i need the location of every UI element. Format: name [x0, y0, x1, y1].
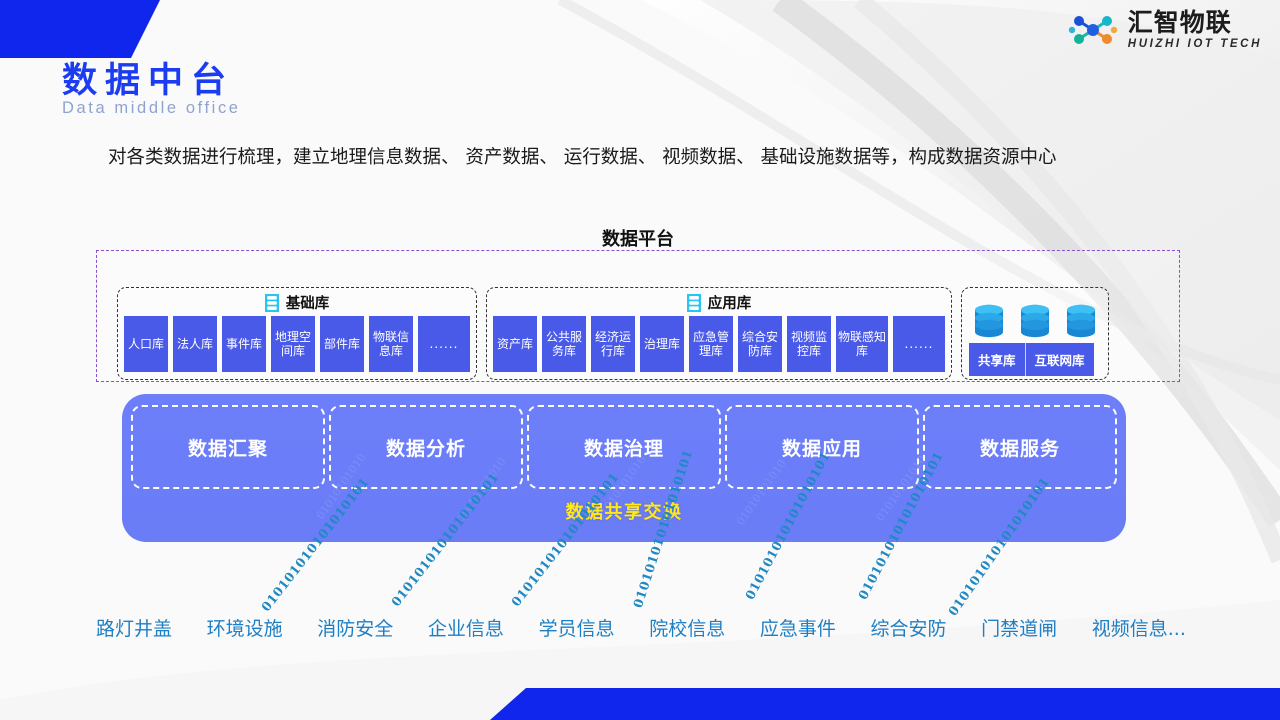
capability-cell-service[interactable]: 数据服务	[923, 405, 1117, 489]
library-group-application-header: 应用库	[493, 292, 945, 313]
internet-library-cell[interactable]: 互联网库	[1025, 343, 1094, 376]
slide-root: 汇智物联 HUIZHI IOT TECH 数据中台 Data middle of…	[0, 0, 1280, 720]
lead-paragraph: 对各类数据进行梳理，建立地理信息数据、 资产数据、 运行数据、 视频数据、 基础…	[108, 138, 1173, 179]
capability-band-footer: 数据共享交换	[122, 498, 1126, 524]
data-source-label-row: 路灯井盖 环境设施 消防安全 企业信息 学员信息 院校信息 应急事件 综合安防 …	[96, 614, 1186, 641]
database-stack-icon	[265, 294, 279, 312]
db-cylinder-icon	[973, 304, 1005, 338]
library-cell[interactable]: 地理空间库	[271, 316, 315, 372]
capability-cell-governance[interactable]: 数据治理	[527, 405, 721, 489]
top-left-blue-accent	[0, 0, 160, 58]
library-cell[interactable]: 资产库	[493, 316, 537, 372]
library-group-basic-cells: 人口库 法人库 事件库 地理空间库 部件库 物联信息库 ......	[124, 316, 470, 372]
source-item[interactable]: 门禁道闸	[981, 614, 1057, 641]
bottom-right-blue-accent	[490, 688, 1280, 720]
library-cell[interactable]: 视频监控库	[787, 316, 831, 372]
source-item[interactable]: 综合安防	[870, 614, 946, 641]
library-group-application-label: 应用库	[708, 292, 752, 313]
data-platform-title: 数据平台	[592, 229, 684, 250]
database-stack-icon	[687, 294, 701, 312]
capability-cell-aggregation[interactable]: 数据汇聚	[131, 405, 325, 489]
page-title-block: 数据中台 Data middle office	[62, 62, 241, 118]
library-group-basic-label: 基础库	[286, 292, 330, 313]
library-group-basic-header: 基础库	[124, 292, 470, 313]
db-cylinder-icon	[1019, 304, 1051, 338]
library-cell[interactable]: 经济运行库	[591, 316, 635, 372]
shared-library-cells: 共享库 互联网库	[969, 343, 1101, 376]
source-item[interactable]: 路灯井盖	[96, 614, 172, 641]
capability-cells: 数据汇聚 数据分析 数据治理 数据应用 数据服务	[131, 405, 1117, 489]
capability-band: 01010101010 01010101010 01010101010 0101…	[122, 394, 1126, 542]
database-cylinder-row	[969, 294, 1101, 338]
data-platform-title-wrap: 数据平台	[97, 225, 1179, 251]
library-cell-more[interactable]: ......	[893, 316, 945, 372]
logo-company-name-cn: 汇智物联	[1128, 10, 1262, 35]
logo-company-name-en: HUIZHI IOT TECH	[1128, 39, 1262, 51]
source-item[interactable]: 消防安全	[317, 614, 393, 641]
library-cell[interactable]: 人口库	[124, 316, 168, 372]
source-item[interactable]: 企业信息	[428, 614, 504, 641]
page-title: 数据中台	[62, 62, 241, 101]
library-cell-more[interactable]: ......	[418, 316, 470, 372]
library-cell[interactable]: 公共服务库	[542, 316, 586, 372]
molecule-network-icon	[1067, 10, 1119, 50]
page-subtitle: Data middle office	[62, 99, 241, 118]
library-cell[interactable]: 部件库	[320, 316, 364, 372]
platform-groups-row: 基础库 人口库 法人库 事件库 地理空间库 部件库 物联信息库 ......	[117, 287, 1109, 380]
source-item[interactable]: 学员信息	[539, 614, 615, 641]
library-cell[interactable]: 法人库	[173, 316, 217, 372]
source-item[interactable]: 院校信息	[649, 614, 725, 641]
db-cylinder-icon	[1065, 304, 1097, 338]
library-group-application: 应用库 资产库 公共服务库 经济运行库 治理库 应急管理库 综合安防库 视频监控…	[486, 287, 952, 380]
library-cell[interactable]: 综合安防库	[738, 316, 782, 372]
library-group-application-cells: 资产库 公共服务库 经济运行库 治理库 应急管理库 综合安防库 视频监控库 物联…	[493, 316, 945, 372]
library-cell[interactable]: 物联信息库	[369, 316, 413, 372]
library-group-basic: 基础库 人口库 法人库 事件库 地理空间库 部件库 物联信息库 ......	[117, 287, 477, 380]
library-cell[interactable]: 治理库	[640, 316, 684, 372]
library-cell[interactable]: 应急管理库	[689, 316, 733, 372]
library-cell[interactable]: 物联感知库	[836, 316, 888, 372]
shared-library-group: 共享库 互联网库	[961, 287, 1109, 380]
source-item[interactable]: 应急事件	[760, 614, 836, 641]
capability-cell-analysis[interactable]: 数据分析	[329, 405, 523, 489]
source-item[interactable]: 环境设施	[207, 614, 283, 641]
capability-cell-application[interactable]: 数据应用	[725, 405, 919, 489]
source-item[interactable]: 视频信息...	[1092, 614, 1186, 641]
brand-logo: 汇智物联 HUIZHI IOT TECH	[1067, 10, 1262, 51]
library-cell[interactable]: 事件库	[222, 316, 266, 372]
shared-library-cell[interactable]: 共享库	[969, 343, 1025, 376]
data-platform-container: 数据平台 基础库 人口库 法人库 事件库 地理	[96, 250, 1180, 382]
